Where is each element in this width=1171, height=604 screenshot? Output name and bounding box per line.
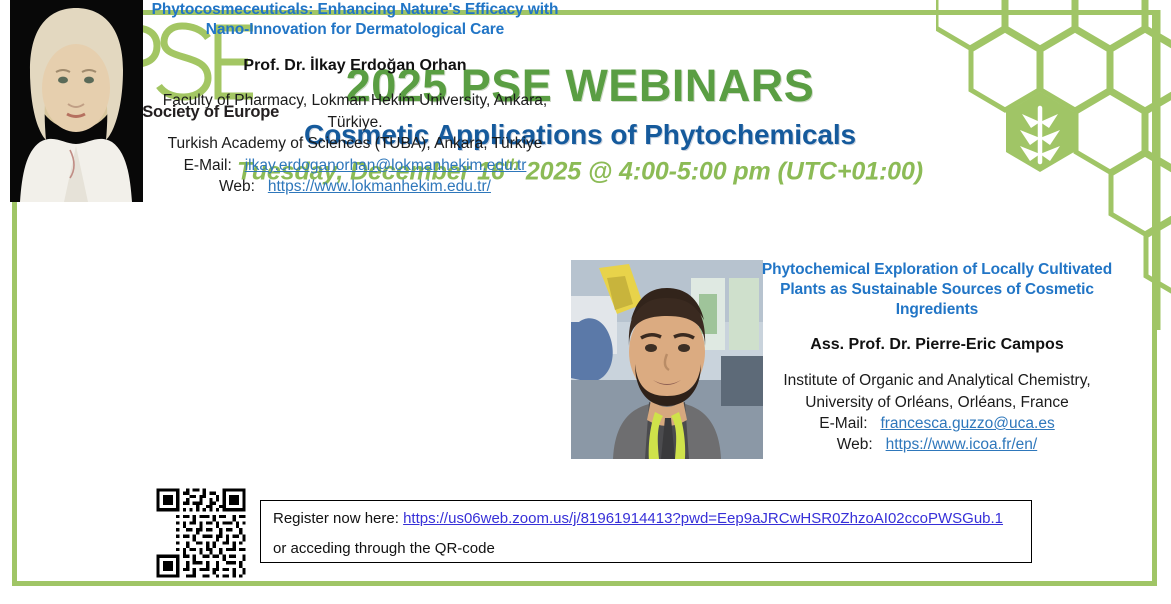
speaker-info-left: Phytocosmeceuticals: Enhancing Nature's … [150, 0, 560, 197]
speaker-email-row-left: E-Mail: ilkay.erdoganorhan@lokmanhekim.e… [150, 155, 560, 176]
registration-line-2: or acceding through the QR-code [273, 540, 1019, 559]
web-link-right[interactable]: https://www.icoa.fr/en/ [886, 436, 1038, 453]
speaker-affiliation-left-2: Turkish Academy of Sciences (TUBA), Anka… [150, 133, 560, 154]
email-label-right: E-Mail: [819, 415, 867, 432]
speaker-web-row-left: Web: https://www.lokmanhekim.edu.tr/ [150, 176, 560, 197]
qr-code[interactable] [152, 485, 250, 581]
registration-prefix: Register now here: [273, 510, 403, 527]
webinar-poster: Phytochemical Society of Europe 2025 PSE… [0, 0, 1171, 604]
speaker-affiliation-left-1: Faculty of Pharmacy, Lokman Hekim Univer… [150, 90, 560, 133]
speaker-email-row-right: E-Mail: francesca.guzzo@uca.es [752, 413, 1122, 434]
talk-title-left: Phytocosmeceuticals: Enhancing Nature's … [150, 0, 560, 40]
date-suffix: 2025 @ 4:00-5:00 pm (UTC+01:00) [519, 158, 923, 186]
speaker-photo-right [571, 260, 763, 459]
speaker-web-row-right: Web: https://www.icoa.fr/en/ [752, 434, 1122, 455]
web-label-left: Web: [219, 178, 255, 195]
speaker-info-right: Phytochemical Exploration of Locally Cul… [752, 260, 1122, 456]
zoom-registration-link[interactable]: https://us06web.zoom.us/j/81961914413?pw… [403, 510, 1003, 527]
speaker-affiliation-right-2: University of Orléans, Orléans, France [752, 392, 1122, 413]
email-link-left[interactable]: ilkay.erdoganorhan@lokmanhekim.edu.tr [245, 157, 527, 174]
speaker-name-left: Prof. Dr. İlkay Erdoğan Orhan [150, 56, 560, 77]
registration-line-1: Register now here: https://us06web.zoom.… [273, 510, 1019, 529]
speaker-photo-left [10, 0, 143, 202]
web-label-right: Web: [837, 436, 873, 453]
registration-box: Register now here: https://us06web.zoom.… [260, 500, 1032, 563]
speaker-name-right: Ass. Prof. Dr. Pierre-Eric Campos [752, 335, 1122, 356]
web-link-left[interactable]: https://www.lokmanhekim.edu.tr/ [268, 178, 491, 195]
email-label-left: E-Mail: [184, 157, 232, 174]
speaker-affiliation-right-1: Institute of Organic and Analytical Chem… [752, 370, 1122, 391]
email-link-right[interactable]: francesca.guzzo@uca.es [880, 415, 1054, 432]
talk-title-right: Phytochemical Exploration of Locally Cul… [752, 260, 1122, 319]
